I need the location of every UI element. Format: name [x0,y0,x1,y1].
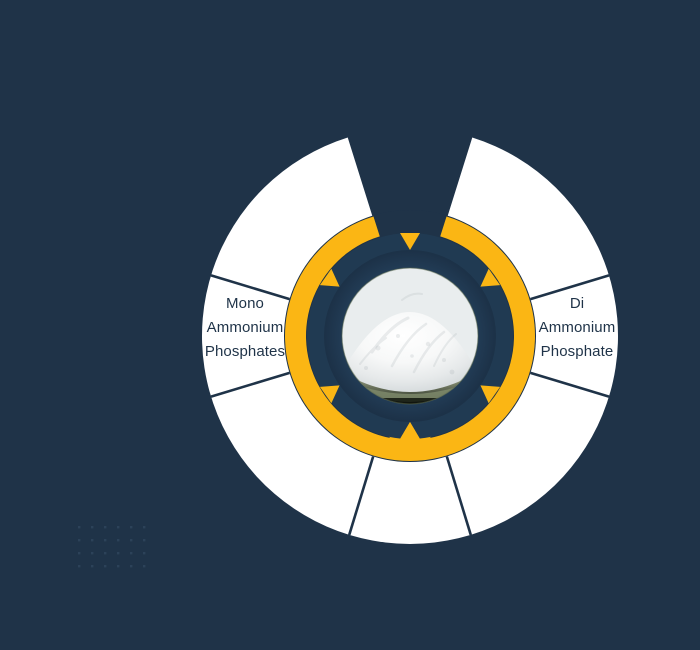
grid-dot [143,565,145,567]
grid-dot [130,552,132,554]
grid-dot [143,526,145,528]
grid-dot [104,539,106,541]
grid-dot [130,565,132,567]
grid-dot [117,565,119,567]
grid-dot [143,539,145,541]
grid-dot [117,526,119,528]
grid-dot [104,526,106,528]
grid-dot [104,552,106,554]
grid-dot [91,552,93,554]
grid-dot [78,552,80,554]
grid-dot [91,539,93,541]
grid-dot [78,539,80,541]
grid-dot [104,565,106,567]
grid-dot [78,526,80,528]
grid-dot [117,552,119,554]
grid-dot [143,552,145,554]
grid-dot [130,539,132,541]
infographic-canvas: Mono Ammonium Phosphates Di Ammonium Pho… [0,0,700,650]
grid-dot [130,526,132,528]
grid-dot [91,565,93,567]
grid-dot [117,539,119,541]
dot-grid-decoration [76,524,156,580]
grid-dot [78,565,80,567]
grid-dot [91,526,93,528]
